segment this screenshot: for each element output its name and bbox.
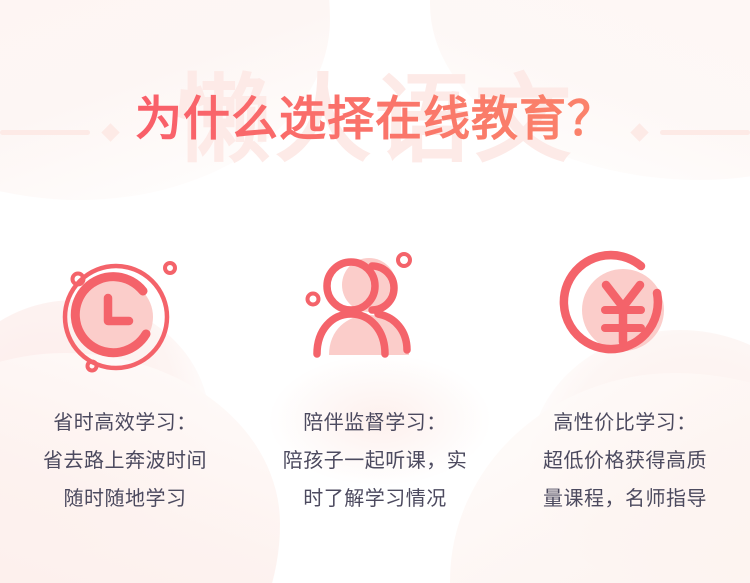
- feature-caption: 省时高效学习： 省去路上奔波时间 随时随地学习: [43, 404, 207, 518]
- feature-list: 省时高效学习： 省去路上奔波时间 随时随地学习: [0, 238, 750, 518]
- divider-line-icon: [0, 130, 90, 135]
- diamond-icon: [101, 123, 119, 141]
- yen-coin-icon-container: [545, 238, 705, 388]
- divider-line-icon: [660, 130, 750, 135]
- feature-item-companion: 陪伴监督学习： 陪孩子一起听课，实 时了解学习情况: [250, 238, 500, 518]
- feature-line-3: 随时随地学习: [43, 480, 207, 518]
- clock-icon-container: [45, 238, 205, 388]
- header-decoration-left: [0, 126, 117, 139]
- two-people-icon-container: [295, 238, 455, 388]
- promo-banner: 懒人语文 为什么选择在线教育？ 省时: [0, 0, 750, 583]
- feature-line-2: 超低价格获得高质: [543, 442, 707, 480]
- header: 懒人语文 为什么选择在线教育？: [0, 66, 750, 176]
- feature-caption: 陪伴监督学习： 陪孩子一起听课，实 时了解学习情况: [283, 404, 468, 518]
- feature-caption: 高性价比学习： 超低价格获得高质 量课程，名师指导: [543, 404, 707, 518]
- header-decoration-right: [633, 126, 750, 139]
- feature-line-3: 时了解学习情况: [283, 480, 468, 518]
- feature-heading: 高性价比学习：: [543, 404, 707, 442]
- feature-item-time-saving: 省时高效学习： 省去路上奔波时间 随时随地学习: [0, 238, 250, 518]
- diamond-icon: [630, 123, 648, 141]
- feature-line-2: 陪孩子一起听课，实: [283, 442, 468, 480]
- feature-heading: 省时高效学习：: [43, 404, 207, 442]
- clock-icon: [45, 238, 205, 388]
- two-people-icon: [295, 238, 455, 388]
- feature-item-value: 高性价比学习： 超低价格获得高质 量课程，名师指导: [500, 238, 750, 518]
- yen-coin-icon: [545, 238, 705, 388]
- feature-line-2: 省去路上奔波时间: [43, 442, 207, 480]
- feature-heading: 陪伴监督学习：: [283, 404, 468, 442]
- feature-line-3: 量课程，名师指导: [543, 480, 707, 518]
